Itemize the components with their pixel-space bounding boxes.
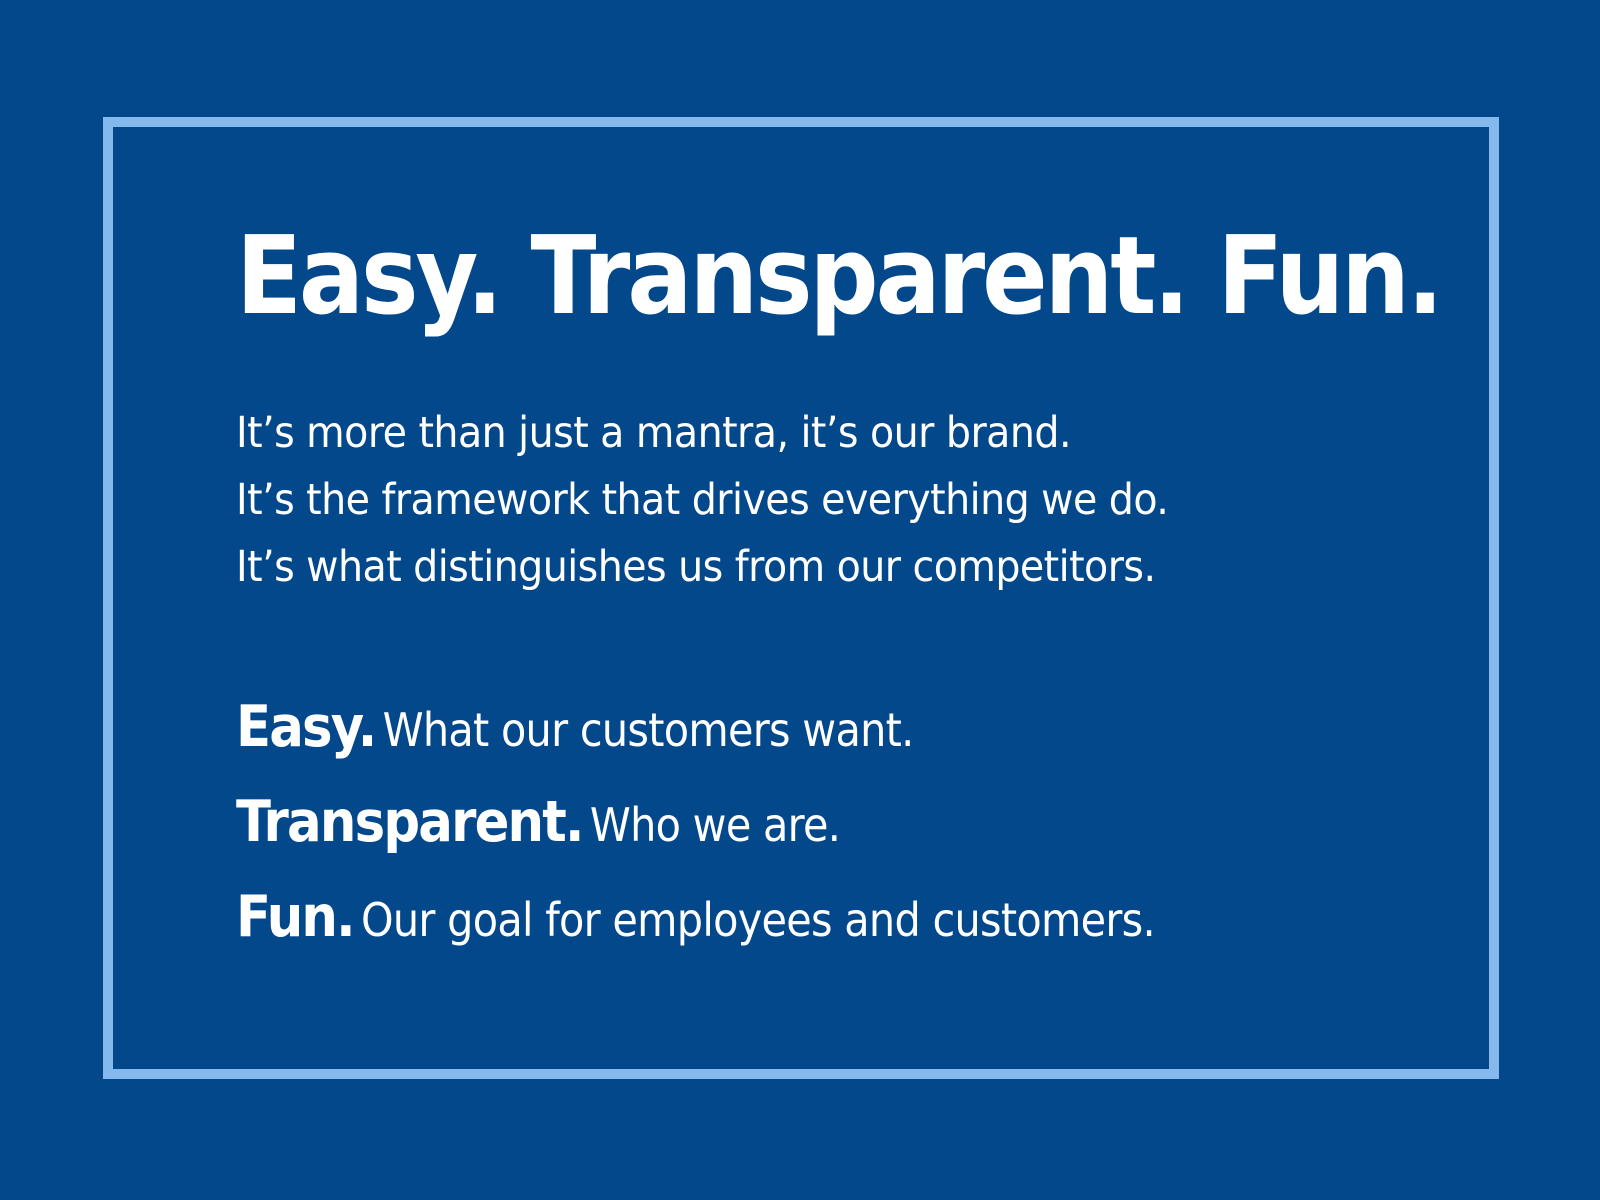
page-title: Easy. Transparent. Fun. xyxy=(236,222,1292,332)
definitions-list: Easy.What our customers want. Transparen… xyxy=(236,601,1416,972)
definition-description: Who we are. xyxy=(583,798,841,852)
definition-item: Fun.Our goal for employees and customers… xyxy=(236,877,1298,972)
definition-description: What our customers want. xyxy=(375,703,913,757)
definition-item: Transparent.Who we are. xyxy=(236,782,1298,877)
brand-mantra-slide: Easy. Transparent. Fun. It’s more than j… xyxy=(0,0,1600,1200)
intro-paragraph: It’s more than just a mantra, it’s our b… xyxy=(236,332,1416,601)
definition-item: Easy.What our customers want. xyxy=(236,687,1298,782)
definition-term: Transparent. xyxy=(236,789,583,855)
slide-content: Easy. Transparent. Fun. It’s more than j… xyxy=(236,222,1416,972)
definition-term: Fun. xyxy=(236,884,354,950)
definition-term: Easy. xyxy=(236,694,375,760)
intro-paragraph-line: It’s more than just a mantra, it’s our b… xyxy=(236,400,1322,467)
intro-paragraph-line: It’s what distinguishes us from our comp… xyxy=(236,534,1322,601)
intro-paragraph-line: It’s the framework that drives everythin… xyxy=(236,467,1322,534)
definition-description: Our goal for employees and customers. xyxy=(354,893,1155,947)
